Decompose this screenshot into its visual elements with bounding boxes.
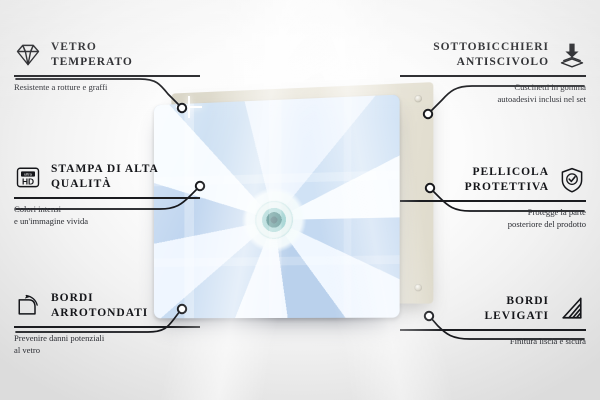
feature-subtitle-line: Protegge la parte xyxy=(400,206,586,218)
feature-header: SOTTOBICCHIERI ANTISCIVOLO xyxy=(400,38,586,72)
feature-title: VETRO TEMPERATO xyxy=(51,40,133,70)
feature-title-line: TEMPERATO xyxy=(51,55,133,70)
feature-title-line: VETRO xyxy=(51,40,133,55)
feature-title: SOTTOBICCHIERI ANTISCIVOLO xyxy=(433,40,549,70)
rounded-corner-icon xyxy=(14,292,42,320)
feature-title: STAMPA DI ALTA QUALITÀ xyxy=(51,162,159,192)
feature-subtitle-line: e un'immagine vivida xyxy=(14,215,200,227)
feature-title: BORDI LEVIGATI xyxy=(485,294,549,324)
feature-divider xyxy=(400,329,586,331)
feature-divider xyxy=(14,75,200,77)
feature-sottobicchieri-antiscivolo: SOTTOBICCHIERI ANTISCIVOLO Cuscinetti in… xyxy=(400,38,586,105)
feature-title: PELLICOLA PROTETTIVA xyxy=(465,165,549,195)
feature-subtitle: Cuscinetti in gomma autoadesivi inclusi … xyxy=(400,81,586,105)
feature-title-line: ANTISCIVOLO xyxy=(433,55,549,70)
feature-subtitle: Resistente a rotture e graffi xyxy=(14,81,200,93)
feature-header: PELLICOLA PROTETTIVA xyxy=(400,163,586,197)
feature-title-line: BORDI xyxy=(485,294,549,309)
polished-edge-icon xyxy=(558,295,586,323)
feature-divider xyxy=(400,200,586,202)
ultra-hd-badge-icon: ultra HD xyxy=(14,163,42,191)
feature-title-line: ARROTONDATI xyxy=(51,306,148,321)
feature-divider xyxy=(14,326,200,328)
feature-title-line: BORDI xyxy=(51,291,148,306)
feature-subtitle: Colori intensi e un'immagine vivida xyxy=(14,203,200,227)
anti-slip-pad-icon xyxy=(558,41,586,69)
feature-subtitle: Prevenire danni potenziali al vetro xyxy=(14,332,200,356)
feature-subtitle: Finitura liscia e sicura xyxy=(400,335,586,347)
feature-header: VETRO TEMPERATO xyxy=(14,38,200,72)
feature-stampa-di-alta-qualita: ultra HD STAMPA DI ALTA QUALITÀ Colori i… xyxy=(14,160,200,227)
feature-pellicola-protettiva: PELLICOLA PROTETTIVA Protegge la parte p… xyxy=(400,163,586,230)
icon-label-hd: HD xyxy=(22,176,34,186)
infographic-canvas: VETRO TEMPERATO Resistente a rotture e g… xyxy=(0,0,600,400)
feature-title-line: SOTTOBICCHIERI xyxy=(433,40,549,55)
feature-vetro-temperato: VETRO TEMPERATO Resistente a rotture e g… xyxy=(14,38,200,93)
feature-divider xyxy=(400,75,586,77)
feature-subtitle-line: Prevenire danni potenziali xyxy=(14,332,200,344)
shield-check-icon xyxy=(558,166,586,194)
feature-divider xyxy=(14,197,200,199)
feature-subtitle: Protegge la parte posteriore del prodott… xyxy=(400,206,586,230)
feature-subtitle-line: posteriore del prodotto xyxy=(400,218,586,230)
feature-subtitle-line: autoadesivi inclusi nel set xyxy=(400,93,586,105)
diamond-icon xyxy=(14,41,42,69)
feature-bordi-levigati: BORDI LEVIGATI Finitura liscia e sicura xyxy=(400,292,586,347)
feature-subtitle-line: Cuscinetti in gomma xyxy=(400,81,586,93)
feature-title-line: STAMPA DI ALTA xyxy=(51,162,159,177)
feature-subtitle-line: al vetro xyxy=(14,344,200,356)
feature-title-line: QUALITÀ xyxy=(51,177,159,192)
feature-subtitle-line: Colori intensi xyxy=(14,203,200,215)
feature-header: ultra HD STAMPA DI ALTA QUALITÀ xyxy=(14,160,200,194)
feature-title-line: LEVIGATI xyxy=(485,309,549,324)
feature-bordi-arrotondati: BORDI ARROTONDATI Prevenire danni potenz… xyxy=(14,289,200,356)
feature-header: BORDI LEVIGATI xyxy=(400,292,586,326)
feature-title-line: PROTETTIVA xyxy=(465,180,549,195)
rubber-foot xyxy=(415,284,422,291)
feature-title-line: PELLICOLA xyxy=(465,165,549,180)
feature-header: BORDI ARROTONDATI xyxy=(14,289,200,323)
feature-title: BORDI ARROTONDATI xyxy=(51,291,148,321)
